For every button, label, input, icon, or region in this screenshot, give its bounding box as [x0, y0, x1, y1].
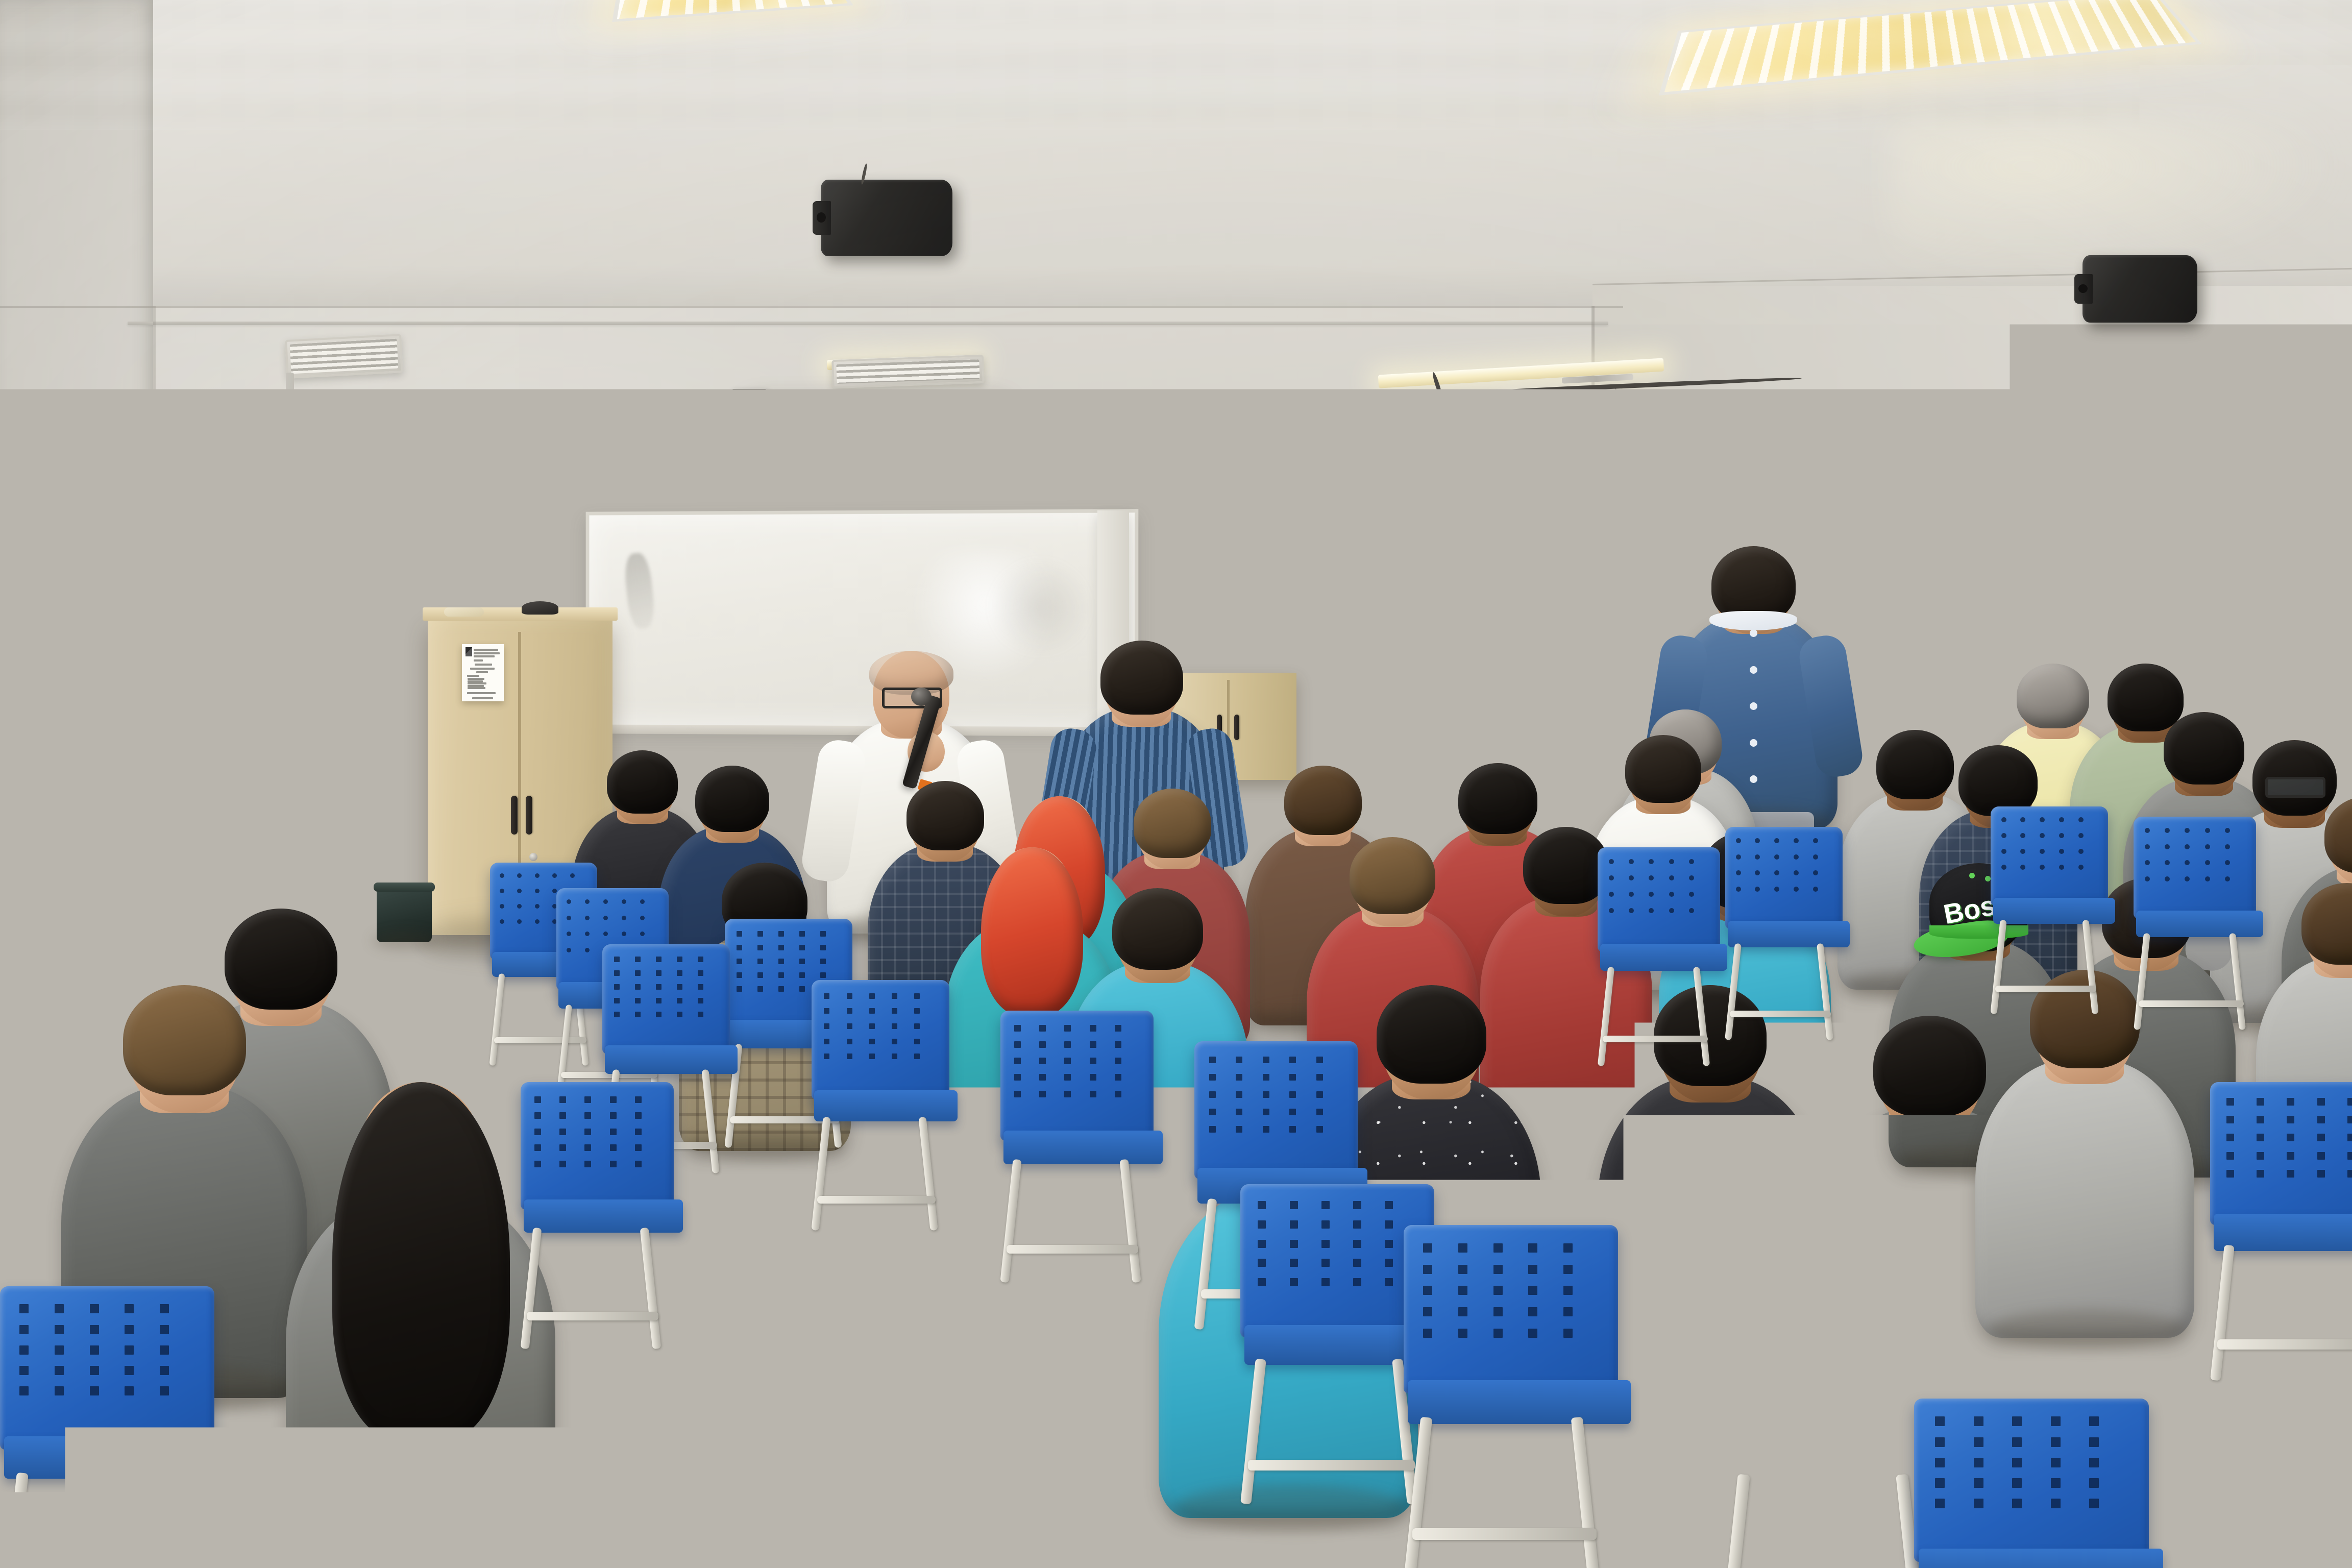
wall-conduit-vertical: [286, 373, 294, 909]
speaker-mount-lug-mid: [1169, 422, 1180, 442]
projector-indicator-led: [1470, 401, 1475, 406]
chair-seat: [2214, 1214, 2352, 1251]
chair-crossbar: [2139, 1000, 2244, 1007]
chair-perforation-grid: [2226, 1098, 2352, 1188]
notice-line: [467, 692, 496, 694]
screen-casing-end-right: [1580, 459, 1596, 471]
person-hair: [1284, 766, 1362, 835]
chair-seat: [4, 1436, 227, 1479]
launcher-item-folder[interactable]: [1321, 525, 1325, 538]
chair-seat: [1919, 1549, 2163, 1568]
wall-trim-upper: [128, 322, 1608, 325]
chair-perforation-grid: [534, 1096, 660, 1177]
person-long-hair: [332, 1082, 510, 1440]
cabinet-notice-sheet: [462, 644, 504, 701]
chair[interactable]: [1598, 847, 1720, 952]
person-shadow: [1174, 1485, 1407, 1531]
trash-bin-rim: [374, 883, 435, 891]
air-vent-center: [831, 355, 985, 388]
chair-perforation-grid: [1014, 1025, 1140, 1107]
person-hair: [1523, 827, 1609, 904]
chair-perforation-grid: [824, 993, 937, 1069]
chair-crossbar: [494, 1037, 586, 1043]
desktop-icon-3[interactable]: [1328, 512, 1352, 533]
screen-casing-end-left: [1273, 463, 1288, 475]
projector-vent: [1437, 399, 1467, 403]
person-hair: [1112, 888, 1203, 970]
desktop-icon-label: [1327, 532, 1359, 537]
tv-screen-glare-top: [774, 403, 897, 424]
launcher-item-settings[interactable]: [1322, 636, 1326, 649]
chair[interactable]: [812, 980, 949, 1100]
chair-seat: [605, 1045, 738, 1074]
chair-backrest: [1725, 827, 1843, 929]
chair-backrest: [1598, 847, 1720, 952]
person-hair: [1458, 763, 1537, 834]
wall-speaker-center-top: [821, 180, 952, 256]
desktop-icon-column[interactable]: [1325, 485, 1383, 675]
eyeglasses: [2265, 777, 2325, 798]
chair-seat: [1003, 1131, 1163, 1164]
auditorium-photo: CIÊNCIA D INSTITUTO Boston: [0, 0, 2352, 1568]
notice-logo-icon: [465, 647, 472, 656]
launcher-item-files[interactable]: [1320, 488, 1324, 501]
chair-crossbar: [1007, 1245, 1138, 1254]
chair[interactable]: [1725, 827, 1843, 929]
person-hair: [1377, 985, 1486, 1084]
chair[interactable]: [1194, 1041, 1358, 1179]
person-hair: [1711, 546, 1796, 622]
person-hair: [695, 766, 769, 832]
desktop-icon-11[interactable]: [1350, 613, 1379, 632]
desktop-icon-label: [1328, 580, 1357, 585]
notice-line: [474, 659, 483, 661]
projection-screen: [1289, 474, 1595, 685]
wall-speaker-far-right: [2082, 255, 2197, 323]
chair-seat: [814, 1090, 958, 1121]
backpack-foreground[interactable]: [985, 1414, 1154, 1568]
vent-slats-right: [2061, 394, 2250, 423]
desktop-icon-label: [1349, 660, 1381, 665]
notebook-foreground[interactable]: [712, 1464, 902, 1568]
chair-backrest: [0, 1286, 214, 1450]
chair[interactable]: [2210, 1082, 2352, 1225]
person-hair: [123, 985, 246, 1095]
chair-perforation-grid: [1736, 838, 1832, 902]
chair-backrest: [602, 944, 730, 1054]
notice-line: [468, 680, 483, 682]
launcher-item-firefox[interactable]: [1321, 506, 1325, 520]
chair[interactable]: [1720, 1276, 1945, 1450]
desktop-icon-4[interactable]: [1350, 511, 1373, 531]
notice-line: [468, 685, 483, 687]
screen-bottom-shadow: [1520, 662, 1576, 676]
chair-seat: [2136, 911, 2264, 937]
chair-backrest: [1720, 1276, 1945, 1450]
chair-crossbar: [1995, 986, 2096, 992]
shirt-button: [1750, 666, 1757, 674]
notice-line: [470, 668, 495, 670]
ceiling-projector: [1409, 392, 1503, 429]
person-hair: [1100, 641, 1183, 715]
projected-desktop: [1319, 480, 1576, 678]
chair-backrest: [1194, 1041, 1358, 1179]
cap-eyelet: [1985, 876, 1991, 881]
chair[interactable]: [1991, 806, 2108, 906]
whiteboard-marks: [623, 552, 656, 630]
air-vent-left: [285, 334, 403, 379]
chair-cluster-shadow: [612, 1256, 1000, 1317]
wall-outlet-box: [312, 881, 335, 901]
person-hair: [1134, 789, 1211, 858]
notice-line: [474, 652, 500, 654]
chair-perforation-grid: [2001, 817, 2098, 880]
person-hair: [2301, 883, 2352, 965]
desktop-icon-label: [1328, 606, 1359, 611]
person-hair: [2324, 796, 2352, 873]
notice-line: [474, 655, 495, 657]
chair-perforation-grid: [1741, 1295, 1925, 1404]
microphone-head: [911, 688, 932, 706]
desktop-icon-label: [1328, 633, 1357, 639]
cabinet-top-object: [444, 607, 484, 617]
shelf-object: [240, 857, 256, 873]
person-hair: [906, 781, 984, 850]
chair-backrest: [1000, 1011, 1154, 1141]
desktop-icon-2[interactable]: [1349, 487, 1373, 508]
chair-backrest: [2134, 817, 2256, 919]
side-shelf: [153, 875, 245, 891]
cap-band: [1929, 925, 2028, 938]
person-shadow: [302, 1500, 545, 1548]
chair-backrest: [812, 980, 949, 1100]
wall-speaker-left: [403, 407, 470, 455]
desktop-icon-7[interactable]: [1350, 560, 1374, 580]
projector-port: [1478, 400, 1485, 407]
chair[interactable]: [602, 944, 730, 1054]
chair-perforation-grid: [1935, 1416, 2127, 1520]
shirt-button: [1750, 702, 1757, 710]
person-hair: [2030, 970, 2140, 1068]
wall-ceiling-seam: [0, 306, 1623, 308]
notice-line: [468, 687, 485, 689]
chair-perforation-grid: [19, 1304, 195, 1407]
notice-line: [468, 682, 486, 684]
chair-perforation-grid: [1423, 1243, 1599, 1350]
projector-lens: [1414, 398, 1431, 415]
person-hair: [1625, 735, 1701, 803]
chair[interactable]: [1404, 1225, 1618, 1393]
launcher-item-trash[interactable]: [1322, 654, 1326, 668]
backpack-tag: [1009, 1497, 1103, 1528]
chair[interactable]: [1914, 1399, 2149, 1562]
chair-seat: [1993, 898, 2115, 924]
launcher-item-app[interactable]: [1321, 543, 1325, 556]
chair-perforation-grid: [1609, 859, 1709, 925]
chair-seat: [1408, 1380, 1631, 1424]
chair-perforation-grid: [1209, 1057, 1343, 1143]
desk-tablet-right-lower: [2192, 1403, 2352, 1490]
chair-backrest: [521, 1082, 674, 1210]
chair[interactable]: [1000, 1011, 1154, 1141]
notice-line: [474, 649, 498, 651]
wallpaper-flare: [1498, 496, 1564, 563]
wall-corner-left: [153, 306, 156, 1031]
person-hair: [1873, 1016, 1986, 1117]
person-hair: [1350, 837, 1435, 914]
chair-perforation-grid: [1258, 1201, 1417, 1297]
desktop-icon-13[interactable]: [1351, 639, 1378, 658]
chair-seat: [1600, 944, 1728, 971]
vent-slats: [290, 339, 399, 374]
speaker-mount-lug-right: [2074, 274, 2093, 304]
notice-line: [468, 678, 484, 680]
chair-seat: [524, 1199, 683, 1233]
speaker-mount-lug-left: [398, 421, 409, 442]
chair-crossbar: [527, 1312, 658, 1320]
notice-line: [475, 664, 492, 666]
wall-speaker-right-of-tv: [1174, 408, 1235, 455]
chair-perforation-grid: [2145, 828, 2245, 892]
chair-backrest: [1914, 1399, 2149, 1562]
notice-line: [476, 671, 488, 673]
notice-line: [472, 697, 493, 699]
chair-seat: [1728, 921, 1850, 947]
cabinet-handle-right[interactable]: [526, 796, 532, 835]
chair-crossbar: [1730, 1011, 1831, 1017]
whiteboard-smudge: [990, 560, 1090, 654]
chair-backrest: [1404, 1225, 1618, 1393]
speaker-mount-lug: [813, 201, 831, 235]
vent-slats-center: [836, 359, 979, 384]
cabinet-top-tray: [522, 601, 558, 615]
chair-crossbar: [1412, 1528, 1597, 1540]
chair-backrest: [2210, 1082, 2352, 1225]
shirt-button: [1750, 629, 1757, 637]
person-hair: [1958, 745, 2038, 816]
desktop-icon-9[interactable]: [1350, 584, 1374, 605]
shirt-collar: [1709, 611, 1797, 630]
chair[interactable]: [0, 1286, 214, 1450]
left-wall: [0, 0, 153, 1123]
screen-casing-button[interactable]: [1287, 465, 1301, 478]
notice-line: [467, 675, 480, 677]
chair-backrest: [1991, 806, 2108, 906]
mic-head: [1311, 682, 1334, 699]
cabinet-lock[interactable]: [529, 853, 537, 861]
podium-handle-right[interactable]: [1234, 715, 1239, 740]
chair-crossbar: [2217, 1339, 2352, 1350]
chair-perforation-grid: [614, 957, 719, 1025]
chair[interactable]: [521, 1082, 674, 1210]
chair-crossbar: [1248, 1460, 1415, 1471]
audience-person: [286, 1082, 555, 1565]
chair-crossbar: [1603, 1036, 1708, 1042]
chair-crossbar: [817, 1196, 936, 1204]
chair[interactable]: [2134, 817, 2256, 919]
desktop-icon-5[interactable]: [1350, 538, 1373, 559]
cap-eyelet: [1969, 873, 1975, 878]
cabinet-handle-left[interactable]: [511, 796, 518, 835]
